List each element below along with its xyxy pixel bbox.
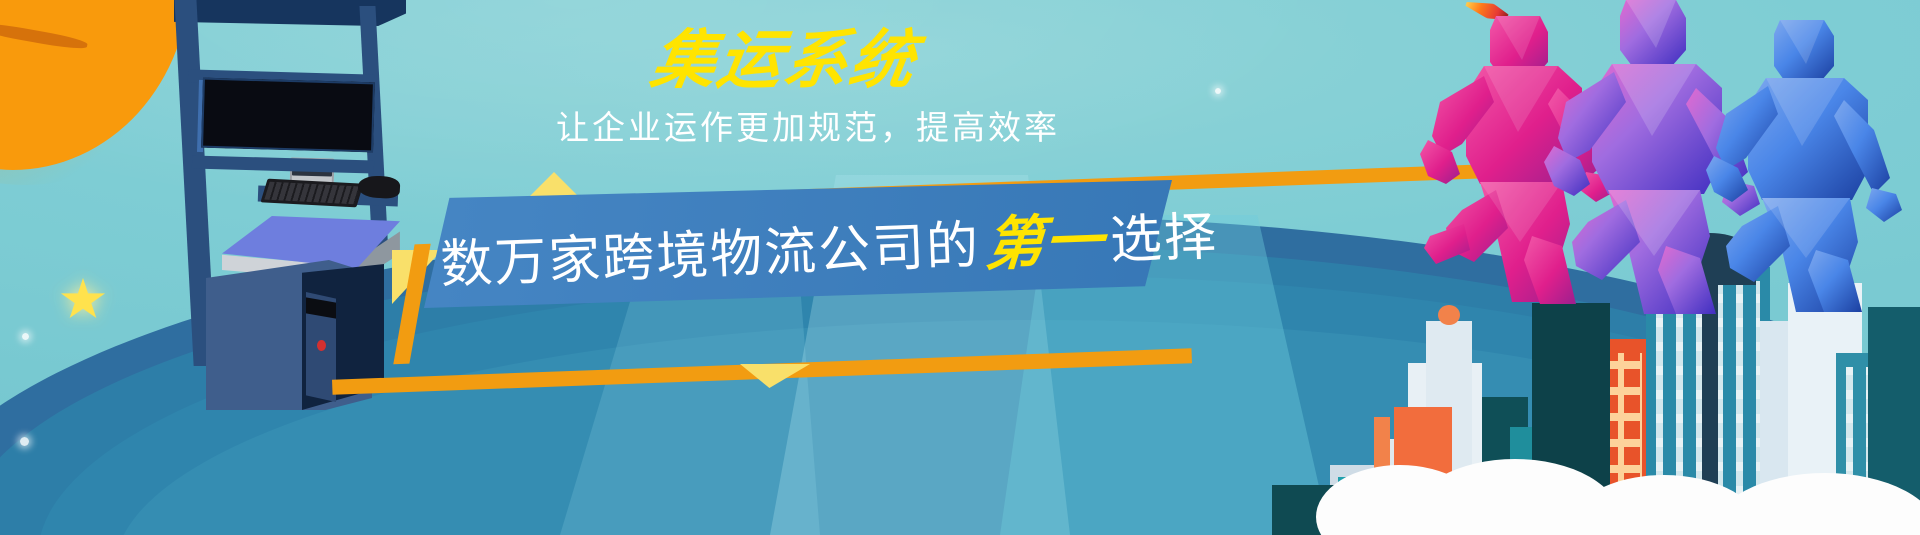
tagline-trail: 选择 — [1108, 194, 1219, 273]
monitor-icon — [201, 78, 375, 153]
sparkle-dot-icon — [20, 437, 29, 446]
page-title: 集运系统 — [646, 22, 958, 100]
power-button-icon — [317, 340, 326, 351]
rooftop-bulb-icon — [1438, 305, 1460, 325]
sparkle-dot-icon — [22, 333, 29, 340]
subtitle: 让企业运作更加规范，提高效率 — [556, 106, 1060, 150]
tagline-lead: 数万家跨境物流公司的 — [439, 202, 981, 297]
tagline-accent: 第一 — [983, 193, 1107, 282]
keyboard-icon — [260, 179, 363, 208]
promo-banner: 集运系统 让企业运作更加规范，提高效率 数万家跨境物流公司的 第一 选择 — [0, 0, 1920, 535]
planet-crater — [0, 21, 88, 52]
kiosk-crossbar — [192, 155, 374, 173]
runner-blue-icon — [1690, 12, 1920, 312]
sparkle-dot-icon — [1215, 88, 1221, 94]
